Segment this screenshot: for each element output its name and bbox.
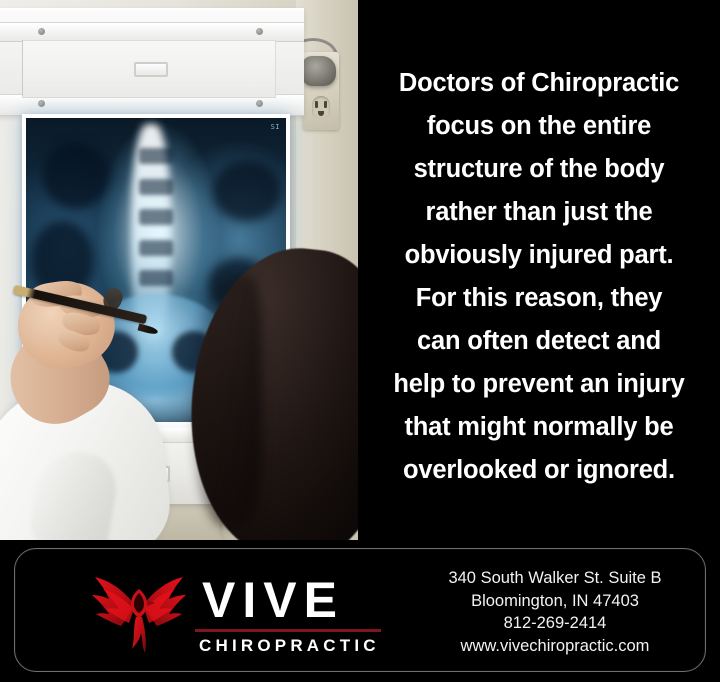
quote-line-8: help to prevent an injury xyxy=(372,363,706,406)
address-line-2: Bloomington, IN 47403 xyxy=(419,590,691,613)
phone-number[interactable]: 812-269-2414 xyxy=(419,612,691,635)
quote-line-1: Doctors of Chiropractic xyxy=(372,62,706,105)
quote-line-4: rather than just the xyxy=(372,191,706,234)
clinic-photo: SI xyxy=(0,0,358,540)
cabinet-upper-handle xyxy=(134,62,168,77)
quote-line-9: that might normally be xyxy=(372,406,706,449)
website-url[interactable]: www.vivechiropractic.com xyxy=(419,635,691,658)
quote-panel: Doctors of Chiropracticfocus on the enti… xyxy=(358,0,720,540)
quote-line-2: focus on the entire xyxy=(372,105,706,148)
phoenix-icon xyxy=(91,569,187,655)
footer-panel: VIVE CHIROPRACTIC 340 South Walker St. S… xyxy=(14,548,706,672)
quote-line-5: obviously injured part. xyxy=(372,234,706,277)
contact-info: 340 South Walker St. Suite B Bloomington… xyxy=(419,567,691,657)
social-graphic-canvas: SI Doctors of Chiropracticfocus on the e… xyxy=(0,0,720,682)
brand-name: VIVE xyxy=(195,573,391,627)
brand-subtitle: CHIROPRACTIC xyxy=(195,636,391,656)
quote-line-3: structure of the body xyxy=(372,148,706,191)
quote-line-10: overlooked or ignored. xyxy=(372,449,706,492)
outlet-plug xyxy=(302,56,336,86)
footer-bar: VIVE CHIROPRACTIC 340 South Walker St. S… xyxy=(0,540,720,682)
outlet-socket-bottom xyxy=(312,96,330,118)
quote-line-6: For this reason, they xyxy=(372,277,706,320)
brand-logo[interactable]: VIVE CHIROPRACTIC xyxy=(91,563,391,659)
quote-text: Doctors of Chiropracticfocus on the enti… xyxy=(372,62,706,492)
address-line-1: 340 South Walker St. Suite B xyxy=(419,567,691,590)
brand-wordmark: VIVE CHIROPRACTIC xyxy=(195,573,391,656)
cabinet-upper xyxy=(0,8,304,116)
brand-divider xyxy=(195,629,381,632)
quote-line-7: can often detect and xyxy=(372,320,706,363)
film-marker-label: SI xyxy=(271,123,280,131)
